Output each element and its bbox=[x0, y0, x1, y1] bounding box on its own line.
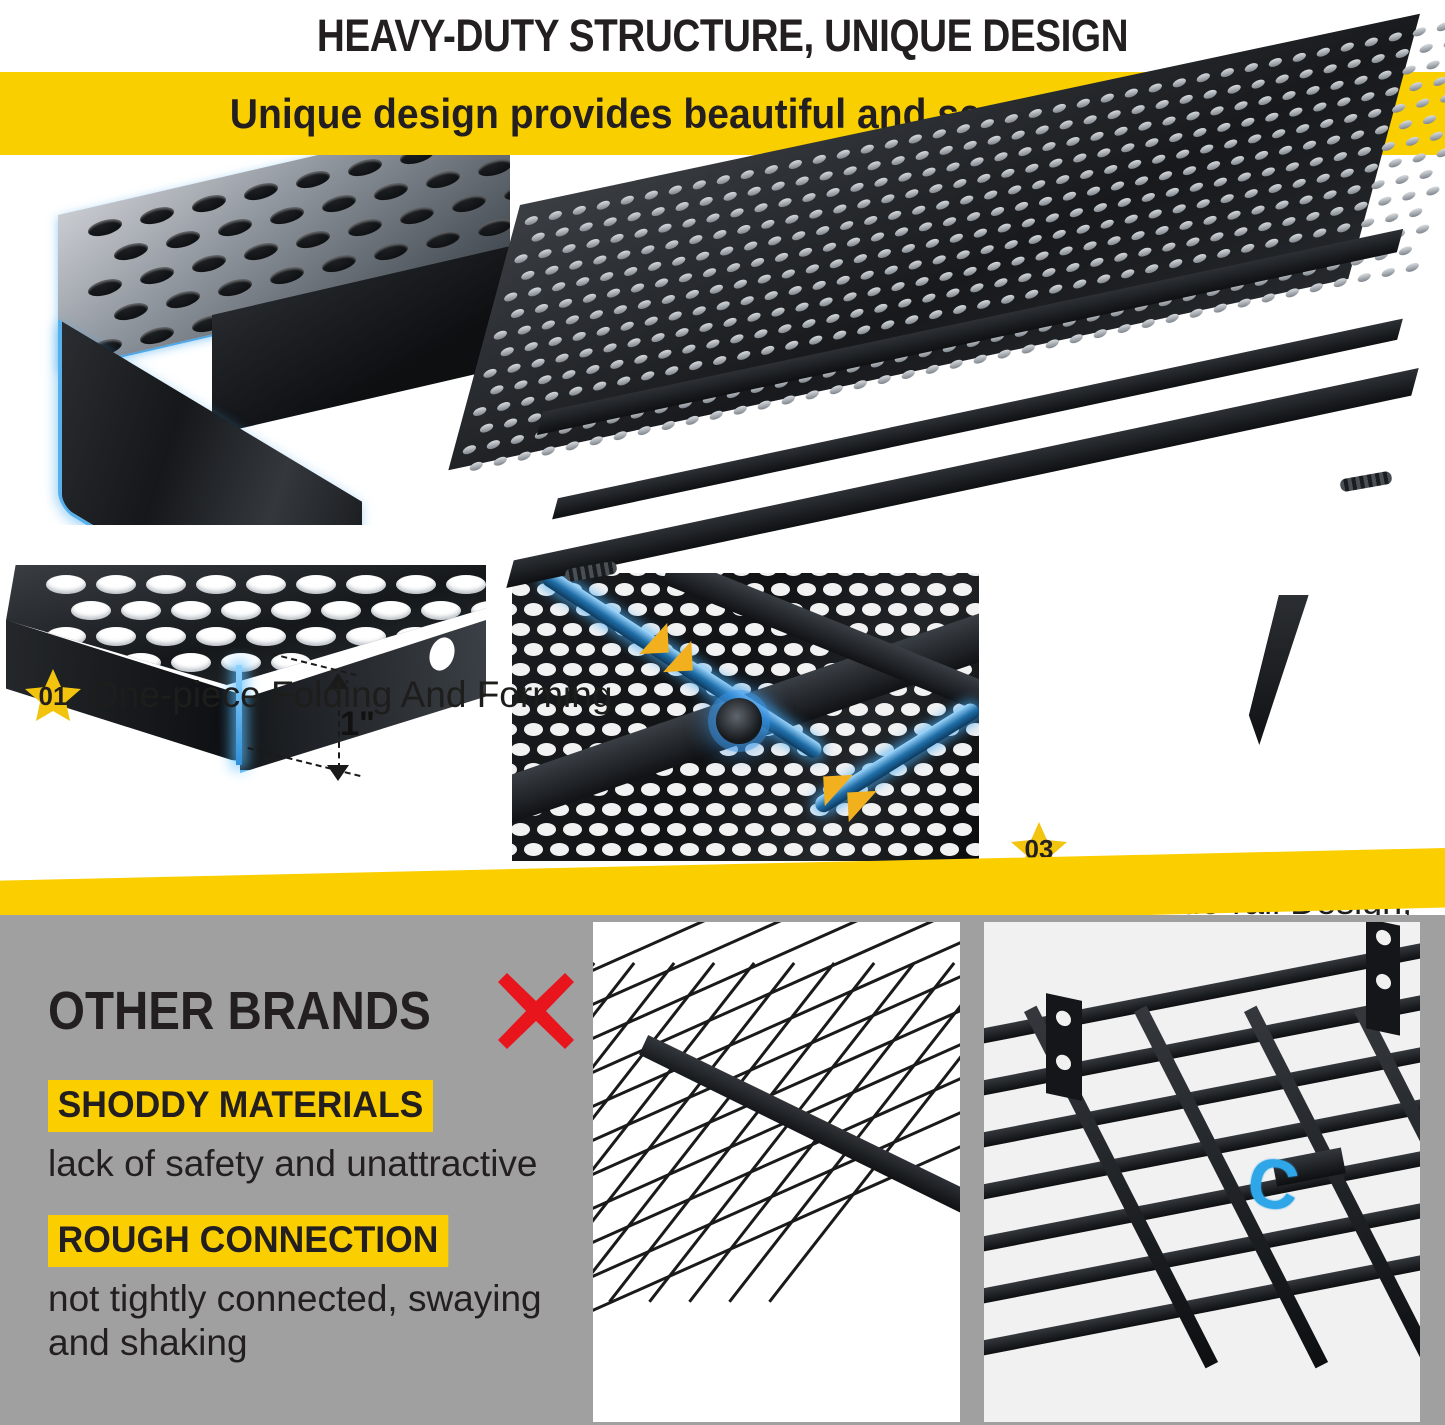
page-title: HEAVY-DUTY STRUCTURE, UNIQUE DESIGN bbox=[101, 2, 1344, 70]
comparison-section: OTHER BRANDS SHODDY MATERIALS lack of sa… bbox=[0, 915, 1445, 1425]
mounting-screw bbox=[1339, 471, 1392, 493]
feature-caption-01: 01 One-piece Folding And Forming bbox=[24, 667, 612, 722]
comparison-heading: OTHER BRANDS bbox=[48, 968, 579, 1054]
comparison-item: ROUGH CONNECTION not tightly connected, … bbox=[48, 1215, 568, 1364]
comparison-item-highlight: ROUGH CONNECTION bbox=[48, 1215, 448, 1267]
wall-mount-ear bbox=[1046, 993, 1082, 1101]
comparison-item-detail: not tightly connected, swaying and shaki… bbox=[48, 1277, 568, 1364]
comparison-heading-text: OTHER BRANDS bbox=[48, 980, 431, 1042]
feature-image-one-piece-folding bbox=[0, 155, 510, 525]
comparison-item-highlight: SHODDY MATERIALS bbox=[48, 1080, 433, 1132]
comparison-item: SHODDY MATERIALS lack of safety and unat… bbox=[48, 1080, 568, 1186]
rack-slat bbox=[984, 1096, 1420, 1202]
wall-mount-ear bbox=[1366, 922, 1400, 1036]
dimension-arrow-down bbox=[327, 765, 349, 781]
mounting-bolt bbox=[716, 698, 762, 744]
competitor-image-slat-rack: C bbox=[984, 922, 1420, 1422]
features-section: 1" AECXM 01 One- bbox=[0, 155, 1445, 880]
red-x-icon bbox=[493, 968, 579, 1054]
hero-product-image: AECXM bbox=[500, 165, 1445, 580]
competitor-image-wire-mesh bbox=[593, 922, 960, 1422]
feature-label: One-piece Folding And Forming bbox=[90, 674, 612, 716]
loose-joint-marker: C bbox=[1243, 1141, 1304, 1227]
support-bracket-left bbox=[1241, 595, 1308, 745]
comparison-item-detail: lack of safety and unattractive bbox=[48, 1142, 568, 1186]
star-badge-icon: 01 bbox=[24, 667, 82, 722]
feature-number: 01 bbox=[24, 667, 82, 722]
